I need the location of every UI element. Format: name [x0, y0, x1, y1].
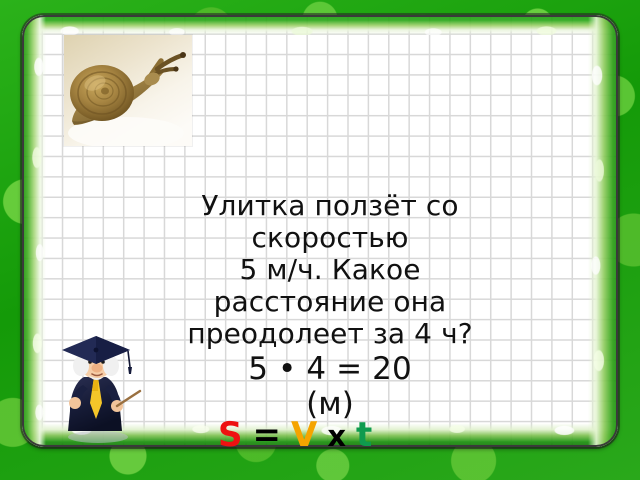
formula-distance-symbol: S [218, 415, 244, 447]
formula-speed-symbol: V [291, 415, 318, 447]
formula-times-sign: x [327, 419, 347, 447]
distance-formula: S=Vxt [218, 415, 382, 447]
snail-photo [64, 35, 192, 146]
content-panel: Улитка ползёт со скоростью 5 м/ч. Какое … [22, 15, 618, 447]
formula-time-symbol: t [356, 415, 373, 447]
problem-statement: Улитка ползёт со скоростью 5 м/ч. Какое … [130, 190, 530, 350]
answer-expression: 5 • 4 = 20 (м) [150, 352, 510, 421]
formula-equals-sign: = [253, 415, 283, 447]
slide-canvas: Улитка ползёт со скоростью 5 м/ч. Какое … [0, 0, 640, 480]
professor-character [50, 333, 142, 445]
